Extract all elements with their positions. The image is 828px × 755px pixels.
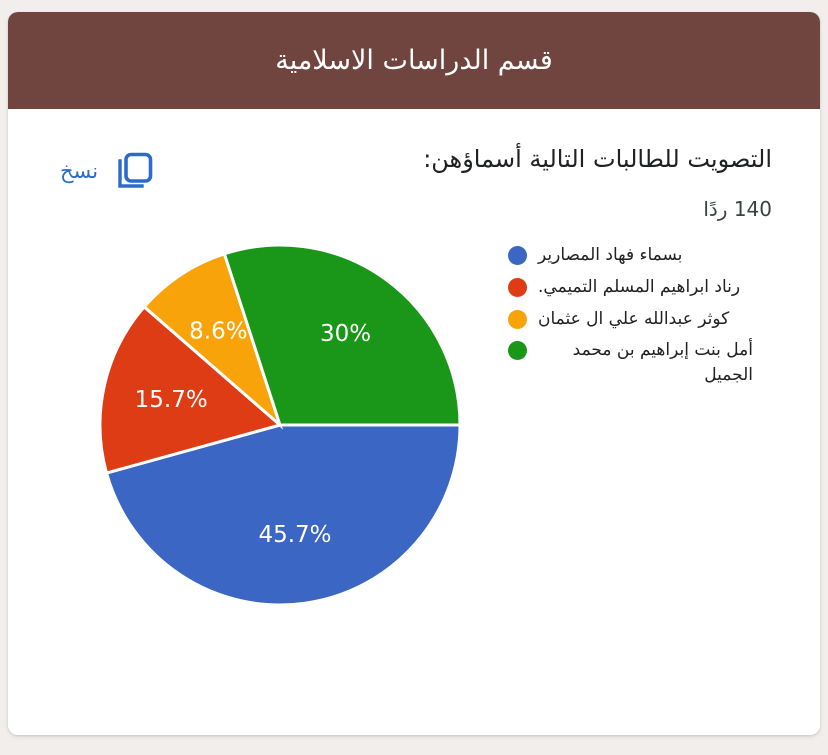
legend-swatch-icon: [508, 310, 527, 329]
legend-item[interactable]: كوثر عبدالله علي ال عثمان: [508, 307, 788, 332]
pie-slice-label: 30%: [320, 322, 371, 348]
question-row: التصويت للطالبات التالية أسماؤهن: 140 رد…: [8, 109, 820, 221]
legend-item[interactable]: رناد ابراهيم المسلم التميمي.: [508, 275, 788, 300]
results-card: قسم الدراسات الاسلامية التصويت للطالبات …: [8, 12, 820, 735]
legend-item-label: أمل بنت إبراهيم بن محمد الجميل: [538, 338, 753, 387]
pie-slice-group: [100, 245, 460, 605]
legend-item[interactable]: أمل بنت إبراهيم بن محمد الجميل: [508, 338, 788, 387]
copy-button-label: نسخ: [60, 159, 98, 183]
pie-chart: 45.7%15.7%8.6%30%: [98, 243, 462, 607]
question-text: التصويت للطالبات التالية أسماؤهن:: [158, 143, 772, 175]
pie-slice-label: 8.6%: [189, 319, 247, 345]
page-title: قسم الدراسات الاسلامية: [275, 45, 553, 76]
pie-slice-label: 15.7%: [135, 387, 208, 413]
legend-swatch-icon: [508, 246, 527, 265]
card-body: التصويت للطالبات التالية أسماؤهن: 140 رد…: [8, 109, 820, 735]
legend-swatch-icon: [508, 278, 527, 297]
question-block: التصويت للطالبات التالية أسماؤهن: 140 رد…: [158, 143, 776, 221]
legend-swatch-icon: [508, 341, 527, 360]
copy-icon[interactable]: [114, 149, 158, 193]
chart-legend: بسماء فهاد المصاريررناد ابراهيم المسلم ا…: [508, 243, 788, 394]
legend-item-label: رناد ابراهيم المسلم التميمي.: [538, 275, 740, 300]
pie-slice-label: 45.7%: [258, 522, 331, 548]
responses-count-text: 140 ردًا: [158, 197, 772, 221]
chart-area: 45.7%15.7%8.6%30% بسماء فهاد المصاريررنا…: [8, 243, 820, 683]
card-header: قسم الدراسات الاسلامية: [8, 12, 820, 109]
legend-item[interactable]: بسماء فهاد المصارير: [508, 243, 788, 268]
copy-button[interactable]: نسخ: [60, 149, 158, 193]
legend-item-label: بسماء فهاد المصارير: [538, 243, 682, 268]
legend-item-label: كوثر عبدالله علي ال عثمان: [538, 307, 729, 332]
